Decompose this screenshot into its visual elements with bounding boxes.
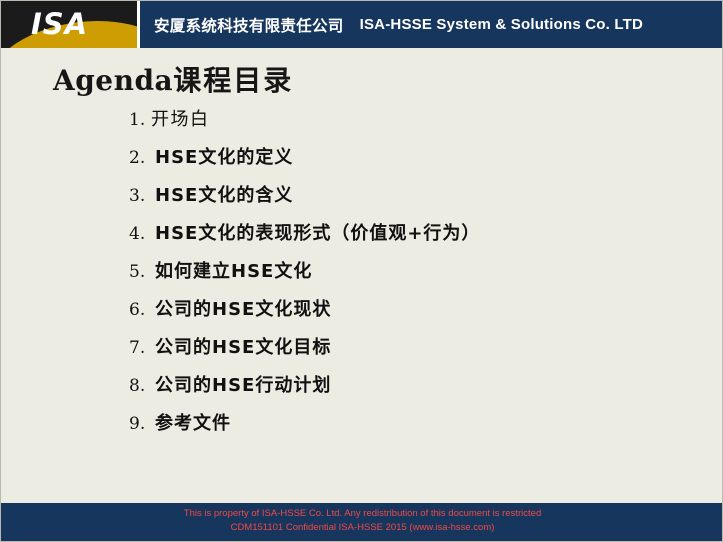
list-item: 1. 开场白 <box>129 105 689 143</box>
list-item-number: 1. <box>129 110 151 130</box>
list-item-number: 6. <box>129 300 155 320</box>
list-item-number: 2. <box>129 148 155 168</box>
footer-document-id-line: CDM151101 Confidential ISA-HSSE 2015 (ww… <box>1 521 723 535</box>
list-item: 4. HSE文化的表现形式（价值观+行为） <box>129 219 689 257</box>
company-name-english: ISA-HSSE System & Solutions Co. LTD <box>360 16 643 33</box>
list-item-label: 公司的HSE文化目标 <box>155 333 331 359</box>
header-title-bar: 安厦系统科技有限责任公司 ISA-HSSE System & Solutions… <box>137 1 723 48</box>
presentation-slide: ISA 安厦系统科技有限责任公司 ISA-HSSE System & Solut… <box>0 0 723 542</box>
list-item: 8. 公司的HSE行动计划 <box>129 371 689 409</box>
slide-footer: This is property of ISA-HSSE Co. Ltd. An… <box>1 503 723 541</box>
company-name-chinese: 安厦系统科技有限责任公司 <box>154 14 344 36</box>
page-title-latin: Agenda <box>53 64 173 97</box>
list-item-label: 开场白 <box>151 105 210 131</box>
list-item-number: 9. <box>129 414 155 434</box>
list-item: 7. 公司的HSE文化目标 <box>129 333 689 371</box>
list-item-label: 如何建立HSE文化 <box>155 257 312 283</box>
list-item: 2. HSE文化的定义 <box>129 143 689 181</box>
list-item-number: 4. <box>129 224 155 244</box>
agenda-list: 1. 开场白 2. HSE文化的定义 3. HSE文化的含义 4. HSE文化的… <box>129 105 689 447</box>
list-item: 5. 如何建立HSE文化 <box>129 257 689 295</box>
page-title-chinese: 课程目录 <box>173 64 293 97</box>
list-item: 3. HSE文化的含义 <box>129 181 689 219</box>
list-item-label: HSE文化的含义 <box>155 181 293 207</box>
company-logo: ISA <box>1 1 137 48</box>
list-item-label: 公司的HSE行动计划 <box>155 371 331 397</box>
list-item-number: 7. <box>129 338 155 358</box>
slide-header: ISA 安厦系统科技有限责任公司 ISA-HSSE System & Solut… <box>1 1 723 48</box>
list-item-number: 5. <box>129 262 155 282</box>
list-item-label: 公司的HSE文化现状 <box>155 295 331 321</box>
list-item-label: HSE文化的定义 <box>155 143 293 169</box>
list-item-number: 3. <box>129 186 155 206</box>
list-item-label: HSE文化的表现形式（价值观+行为） <box>155 219 480 245</box>
list-item-number: 8. <box>129 376 155 396</box>
footer-copyright-line: This is property of ISA-HSSE Co. Ltd. An… <box>1 507 723 521</box>
list-item: 6. 公司的HSE文化现状 <box>129 295 689 333</box>
list-item-label: 参考文件 <box>155 409 231 435</box>
logo-text: ISA <box>31 7 88 41</box>
page-title: Agenda课程目录 <box>53 59 293 99</box>
list-item: 9. 参考文件 <box>129 409 689 447</box>
